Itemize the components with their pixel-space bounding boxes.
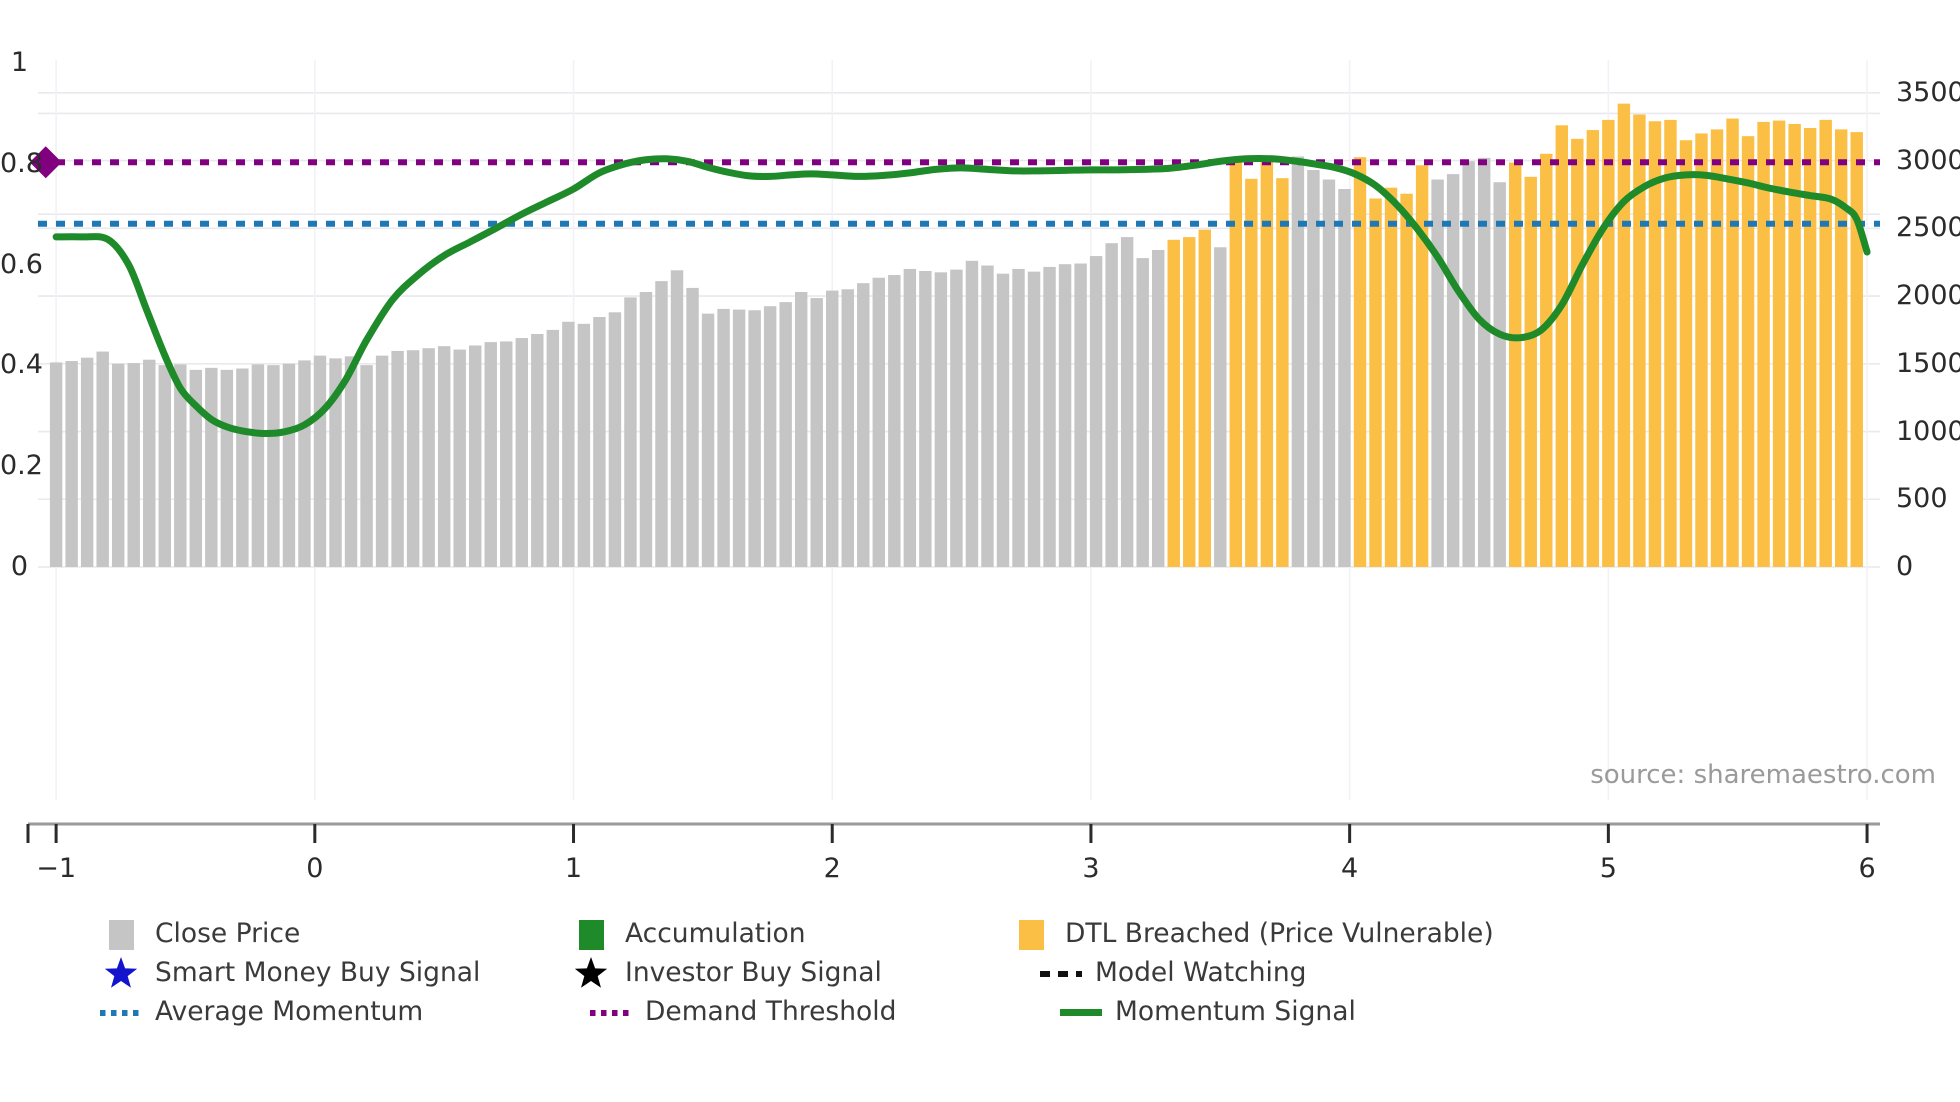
bar (686, 288, 698, 567)
bar (128, 363, 140, 567)
square-swatch-icon (570, 920, 612, 950)
bar (314, 356, 326, 567)
bar (159, 365, 171, 567)
bar (50, 362, 62, 567)
chart-root: 00.20.40.60.8105001000150020002500300035… (0, 0, 1960, 1102)
legend-item[interactable]: Momentum Signal (1060, 993, 1530, 1032)
legend-item[interactable]: DTL Breached (Price Vulnerable) (1010, 915, 1500, 954)
bar (205, 368, 217, 567)
bar (1307, 170, 1319, 567)
bar (1338, 189, 1350, 567)
y-axis-left-tick-label: 0.2 (0, 452, 28, 479)
x-axis-tick-label: 5 (1568, 855, 1648, 882)
x-axis-tick-label: −1 (16, 855, 96, 882)
legend-item-label: Smart Money Buy Signal (155, 960, 480, 987)
bar (1493, 182, 1505, 567)
y-axis-right-tick-label: 3500 (1896, 79, 1960, 106)
bar (1323, 180, 1335, 567)
bar (1199, 230, 1211, 567)
bar (485, 342, 497, 567)
bar (1136, 258, 1148, 567)
bar (609, 312, 621, 567)
bar (748, 310, 760, 567)
square-swatch-icon (1010, 920, 1052, 950)
bar (1602, 120, 1614, 567)
bar (438, 346, 450, 567)
bar (236, 369, 248, 567)
bar (826, 291, 838, 567)
x-axis-tick-label: 6 (1827, 855, 1907, 882)
bar (469, 345, 481, 567)
y-axis-left-tick-label: 0.8 (0, 150, 28, 177)
bar (997, 274, 1009, 567)
bar (811, 298, 823, 567)
bar (516, 338, 528, 567)
bar (764, 306, 776, 567)
bar (376, 356, 388, 567)
bar (624, 297, 636, 567)
bar (1183, 237, 1195, 567)
bar (1230, 159, 1242, 567)
bar (655, 281, 667, 567)
bar (1214, 247, 1226, 567)
bar (935, 272, 947, 567)
bar (1074, 264, 1086, 567)
bar (1261, 156, 1273, 567)
y-axis-right-tick-label: 1500 (1896, 350, 1960, 377)
bar (640, 292, 652, 567)
y-axis-right-tick-label: 1000 (1896, 418, 1960, 445)
bar (1090, 256, 1102, 567)
bar (252, 364, 264, 567)
legend-item-label: Average Momentum (155, 999, 423, 1026)
legend-item-label: Close Price (155, 921, 300, 948)
source-note: source: sharemaestro.com (1590, 760, 1936, 790)
bar (562, 322, 574, 567)
bar (1028, 272, 1040, 567)
star-icon (100, 959, 142, 989)
bar (1245, 179, 1257, 567)
bar (1571, 139, 1583, 567)
bar (919, 271, 931, 567)
dotted-line-icon (590, 998, 632, 1028)
bar (1680, 140, 1692, 567)
bar (904, 269, 916, 567)
legend-item[interactable]: Demand Threshold (590, 993, 1060, 1032)
bar (500, 341, 512, 567)
bar (407, 350, 419, 567)
x-axis-tick-label: 0 (275, 855, 355, 882)
bar (1726, 119, 1738, 567)
bar (1152, 250, 1164, 567)
legend-item-label: Momentum Signal (1115, 999, 1356, 1026)
bar (391, 351, 403, 567)
star-icon (570, 959, 612, 989)
bar (143, 360, 155, 567)
bar (717, 309, 729, 567)
bar (1540, 154, 1552, 567)
legend-item-label: Accumulation (625, 921, 806, 948)
bar (1618, 104, 1630, 567)
bar (345, 356, 357, 567)
bar (795, 292, 807, 567)
y-axis-right-tick-label: 3000 (1896, 147, 1960, 174)
bar (779, 302, 791, 567)
y-axis-right-tick-label: 0 (1896, 553, 1960, 580)
x-axis-tick-label: 3 (1051, 855, 1131, 882)
square-swatch-icon (100, 920, 142, 950)
bar (1276, 178, 1288, 567)
y-axis-left-tick-label: 0 (0, 553, 28, 580)
y-axis-right-tick-label: 2000 (1896, 282, 1960, 309)
bar (1649, 121, 1661, 567)
bar (298, 360, 310, 567)
y-axis-right-tick-label: 500 (1896, 485, 1960, 512)
legend-item-label: Demand Threshold (645, 999, 896, 1026)
bar (1431, 180, 1443, 567)
bar (1851, 132, 1863, 567)
bar (1105, 243, 1117, 567)
bar (671, 270, 683, 567)
bar (1447, 174, 1459, 567)
legend-item[interactable]: Smart Money Buy Signal (100, 954, 570, 993)
bar (873, 278, 885, 567)
bar (966, 261, 978, 567)
bar (221, 370, 233, 567)
bar (1742, 136, 1754, 567)
bar (1819, 120, 1831, 567)
bar (1664, 120, 1676, 567)
bar-series-close-price (50, 104, 1863, 567)
dashed-line-icon (1040, 959, 1082, 989)
bar (283, 364, 295, 567)
bar (1354, 157, 1366, 567)
x-axis-tick-label: 4 (1310, 855, 1390, 882)
bar (1695, 133, 1707, 567)
bar (1121, 237, 1133, 567)
bar (422, 348, 434, 567)
bar (950, 270, 962, 567)
bar (112, 364, 124, 567)
bar (547, 330, 559, 567)
bar (1587, 130, 1599, 567)
bar (65, 361, 77, 567)
bar (578, 324, 590, 567)
bar (593, 317, 605, 567)
bar (733, 310, 745, 567)
bar (1369, 198, 1381, 567)
bar (1168, 240, 1180, 567)
bar (981, 266, 993, 567)
y-axis-right-tick-label: 2500 (1896, 214, 1960, 241)
bar (842, 289, 854, 567)
legend-item[interactable]: Average Momentum (100, 993, 590, 1032)
y-axis-left-tick-label: 1 (0, 49, 28, 76)
bar (1478, 158, 1490, 567)
bar (1835, 129, 1847, 567)
bar (96, 352, 108, 567)
bar (1292, 156, 1304, 567)
x-axis-tick-label: 2 (792, 855, 872, 882)
legend-item[interactable]: Close Price (100, 915, 570, 954)
bar (702, 314, 714, 567)
bar (1633, 114, 1645, 567)
y-axis-left-tick-label: 0.4 (0, 351, 28, 378)
legend-item[interactable]: Model Watching (1040, 954, 1480, 993)
chart-legend: Close PriceAccumulationDTL Breached (Pri… (0, 915, 1960, 1032)
legend-item[interactable]: Investor Buy Signal (570, 954, 1040, 993)
bar (1043, 267, 1055, 567)
bar (1012, 269, 1024, 567)
solid-line-icon (1060, 998, 1102, 1028)
x-axis-tick-label: 1 (534, 855, 614, 882)
bar (1525, 177, 1537, 567)
legend-item[interactable]: Accumulation (570, 915, 1010, 954)
bar (267, 365, 279, 567)
bar (1385, 188, 1397, 567)
legend-item-label: Model Watching (1095, 960, 1306, 987)
bar (1059, 264, 1071, 567)
dotted-line-icon (100, 998, 142, 1028)
bar (81, 358, 93, 567)
bar (857, 283, 869, 567)
bar (888, 275, 900, 567)
y-axis-left-tick-label: 0.6 (0, 251, 28, 278)
legend-item-label: Investor Buy Signal (625, 960, 882, 987)
bar (1556, 125, 1568, 567)
bar (1711, 129, 1723, 567)
bar (360, 365, 372, 567)
bar (453, 350, 465, 567)
legend-item-label: DTL Breached (Price Vulnerable) (1065, 921, 1494, 948)
bar (1400, 194, 1412, 567)
bar (531, 334, 543, 567)
